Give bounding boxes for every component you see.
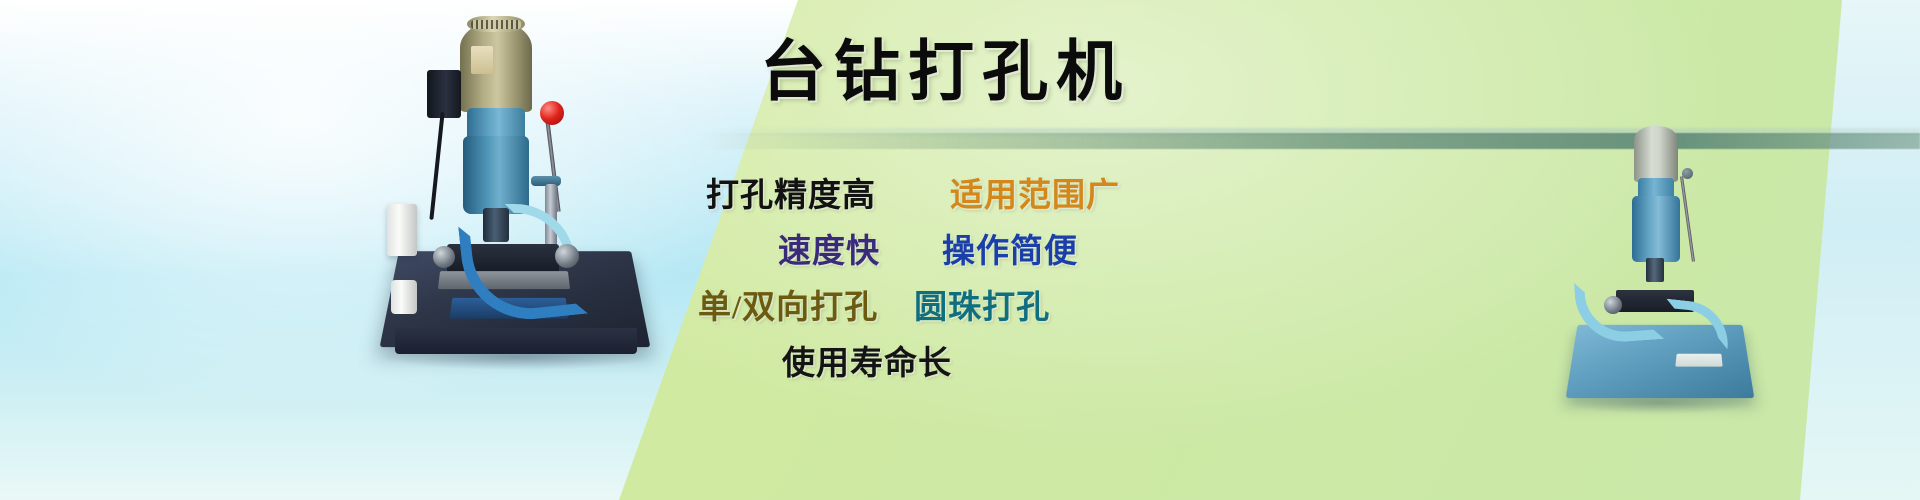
main-machine-base-front (395, 328, 637, 354)
main-machine-motor-vents (471, 20, 521, 29)
feature-label-drilling-precision: 打孔精度高 (706, 168, 876, 216)
banner-title-wrapper: 台钻打孔机 (760, 38, 1520, 107)
feature-row: 打孔精度高 适用范围广 (690, 168, 1420, 224)
main-machine-sensor-block-lower (391, 280, 417, 314)
secondary-machine-lever-rod (1680, 176, 1695, 262)
banner-title: 台钻打孔机 (760, 38, 1520, 107)
feature-row: 使用寿命长 (690, 336, 1420, 392)
feature-label-fast-speed: 速度快 (778, 224, 880, 272)
feature-label-long-service-life: 使用寿命长 (782, 336, 952, 384)
secondary-machine-sticker (1675, 354, 1722, 367)
secondary-machine-spindle-housing (1632, 196, 1680, 262)
main-machine-cable (429, 112, 444, 220)
feature-list: 打孔精度高 适用范围广 速度快 操作简便 单/双向打孔 圆珠打孔 使用寿命长 (690, 168, 1420, 392)
main-machine-handwheel-left (433, 246, 455, 268)
secondary-machine-lever-knob (1682, 168, 1693, 179)
main-machine-sensor-block (387, 204, 417, 256)
product-banner: 台钻打孔机 打孔精度高 适用范围广 速度快 操作简便 单/双向打孔 圆珠打孔 使… (0, 0, 1920, 500)
secondary-machine-coolant-hose-right (1662, 299, 1732, 350)
feature-label-wide-application: 适用范围广 (950, 168, 1120, 216)
main-machine-spindle-housing (463, 136, 529, 214)
secondary-machine-motor (1634, 126, 1678, 182)
main-machine-lever-ball (540, 101, 564, 125)
main-product-image (355, 8, 665, 378)
feature-label-ball-drilling: 圆珠打孔 (914, 280, 1050, 328)
feature-row: 单/双向打孔 圆珠打孔 (690, 280, 1420, 336)
feature-label-single-double-direction: 单/双向打孔 (698, 280, 878, 328)
main-machine-control-box (427, 70, 461, 118)
main-machine-motor-nameplate (471, 46, 493, 74)
secondary-product-image (1560, 120, 1760, 410)
feature-label-easy-operation: 操作简便 (942, 224, 1078, 272)
feature-row: 速度快 操作简便 (690, 224, 1420, 280)
